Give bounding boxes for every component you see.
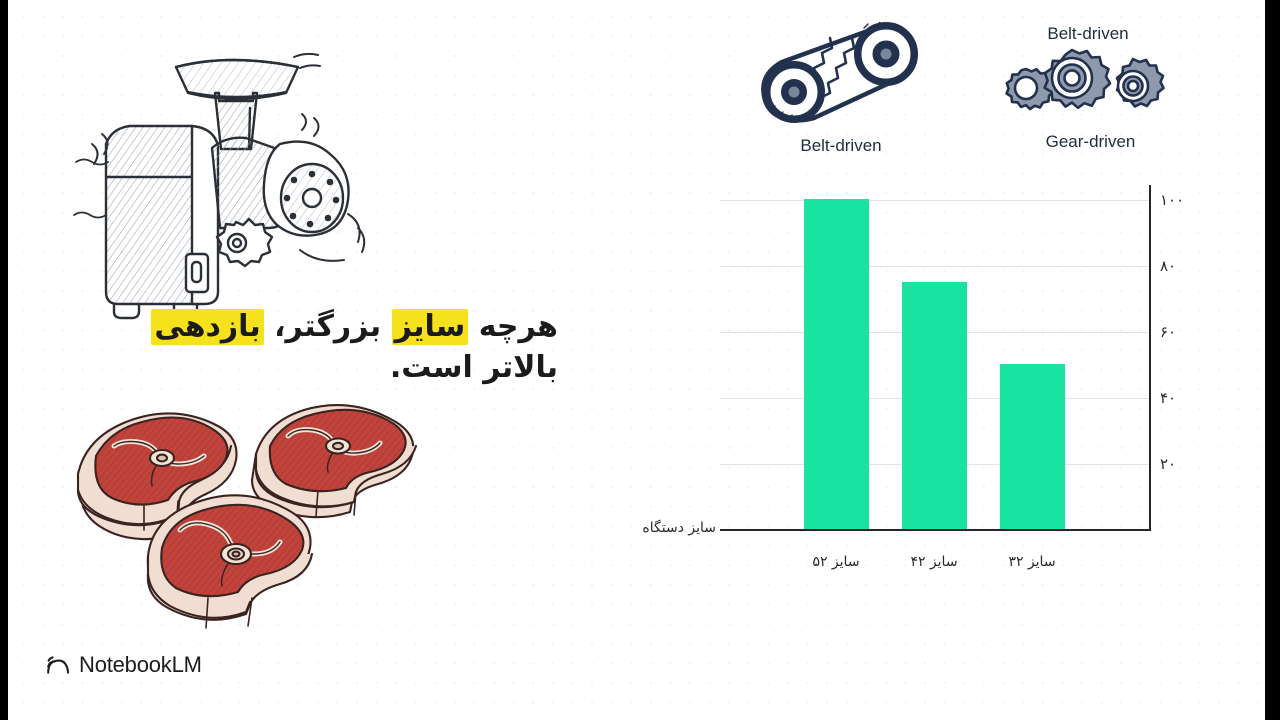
letterbox-right bbox=[1265, 0, 1280, 720]
chart-x-axis-line bbox=[720, 529, 1151, 531]
y-tick-label: ۴۰ bbox=[1160, 389, 1220, 407]
efficiency-bar-chart: ۱۰۰۸۰۶۰۴۰۲۰ سایز ۵۲سایز ۴۲سایز ۳۲ سایز د… bbox=[8, 0, 1265, 720]
x-tick-label: سایز ۳۲ bbox=[972, 554, 1092, 570]
y-tick-label: ۶۰ bbox=[1160, 323, 1220, 341]
chart-y-axis-line bbox=[1149, 185, 1151, 531]
chart-axis-title: سایز دستگاه bbox=[620, 520, 716, 536]
gridline-80 bbox=[720, 266, 1151, 267]
gridline-100 bbox=[720, 200, 1151, 201]
slide-stage: هرچه سایز بزرگتر، بازدهی بالاتر است. bbox=[0, 0, 1280, 720]
bar-0[interactable] bbox=[804, 199, 869, 529]
bar-2[interactable] bbox=[1000, 364, 1065, 529]
y-tick-label: ۲۰ bbox=[1160, 455, 1220, 473]
y-tick-label: ۸۰ bbox=[1160, 257, 1220, 275]
bar-1[interactable] bbox=[902, 282, 967, 530]
slide-canvas: هرچه سایز بزرگتر، بازدهی بالاتر است. bbox=[8, 0, 1265, 720]
y-tick-label: ۱۰۰ bbox=[1160, 191, 1220, 209]
letterbox-left bbox=[0, 0, 8, 720]
